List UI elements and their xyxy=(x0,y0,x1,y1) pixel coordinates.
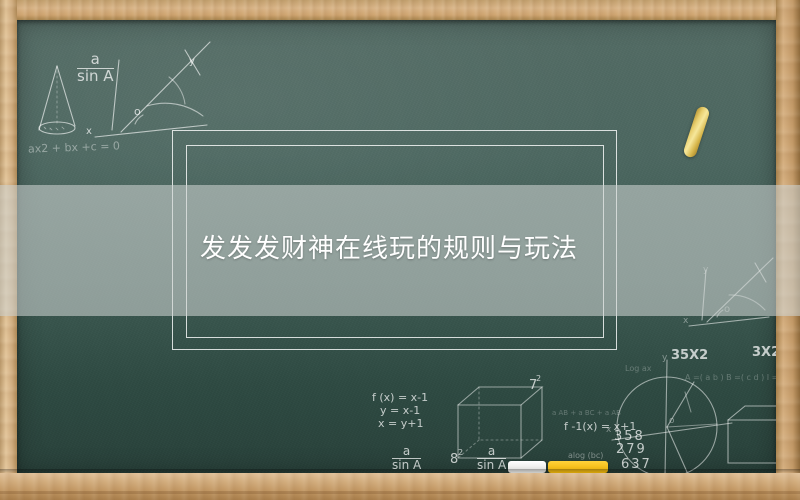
seven-squared-exponent: 2 xyxy=(536,374,541,383)
yellow-chalk-stick[interactable] xyxy=(682,105,710,158)
log-ax-expression: Log ax xyxy=(625,364,651,373)
multiplication-3x2: 3X2 xyxy=(752,345,776,360)
alog-bc-expression: alog (bc) xyxy=(568,451,603,460)
quadratic-equation: ax2 + bx +c = 0 xyxy=(28,139,120,155)
seven-squared-base: 7 xyxy=(529,378,537,393)
eight-squared-base: 8 xyxy=(450,452,458,467)
axis-label-x: x xyxy=(86,126,92,137)
angle-label-o: o xyxy=(134,105,141,118)
function-definition-fx: f (x) = x-1 xyxy=(372,391,428,404)
circle-sector-diagram xyxy=(612,360,732,473)
chalk-tray-ledge xyxy=(0,473,800,500)
addend-lower: 279 xyxy=(616,442,647,457)
eight-squared-exponent: 2 xyxy=(458,448,463,457)
chalkboard-banner: y x o a sin A ax2 + bx +c = 0 f (x) = x-… xyxy=(0,0,800,500)
addend-upper: 358 xyxy=(614,429,645,444)
page-title: 发发发财神在线玩的规则与玩法 xyxy=(200,232,620,264)
tiny-chalk-equation: a AB + a BC + a AB xyxy=(552,409,621,417)
fraction-a-over-sin-a: a sin A xyxy=(77,52,114,85)
ledge-lip xyxy=(0,491,800,494)
frame-top-rail xyxy=(0,0,800,20)
angle-label-o: o xyxy=(669,416,675,426)
multiplication-35x2: 35X2 xyxy=(671,348,708,363)
axis-label-x: x xyxy=(606,425,611,435)
fraction-a-over-sin-a: a sin A xyxy=(477,445,506,472)
angle-with-arc-diagram xyxy=(95,42,210,137)
axis-label-x: x xyxy=(683,316,688,326)
axis-label-y: y xyxy=(662,353,667,363)
fraction-a-over-sin-a: a sin A xyxy=(392,445,421,472)
function-definition-x: x = y+1 xyxy=(378,417,423,430)
cube-wireframe xyxy=(728,406,776,463)
inverse-function: f -1(x) = x+1 xyxy=(564,420,636,433)
axis-label-y: y xyxy=(189,56,195,67)
matrix-expressions: A =( a b ) B =( c d ) I =( 1 0 ) xyxy=(685,373,776,382)
function-definition-y: y = x-1 xyxy=(380,404,420,417)
cube-wireframe xyxy=(458,387,542,458)
cone-diagram xyxy=(39,66,75,134)
